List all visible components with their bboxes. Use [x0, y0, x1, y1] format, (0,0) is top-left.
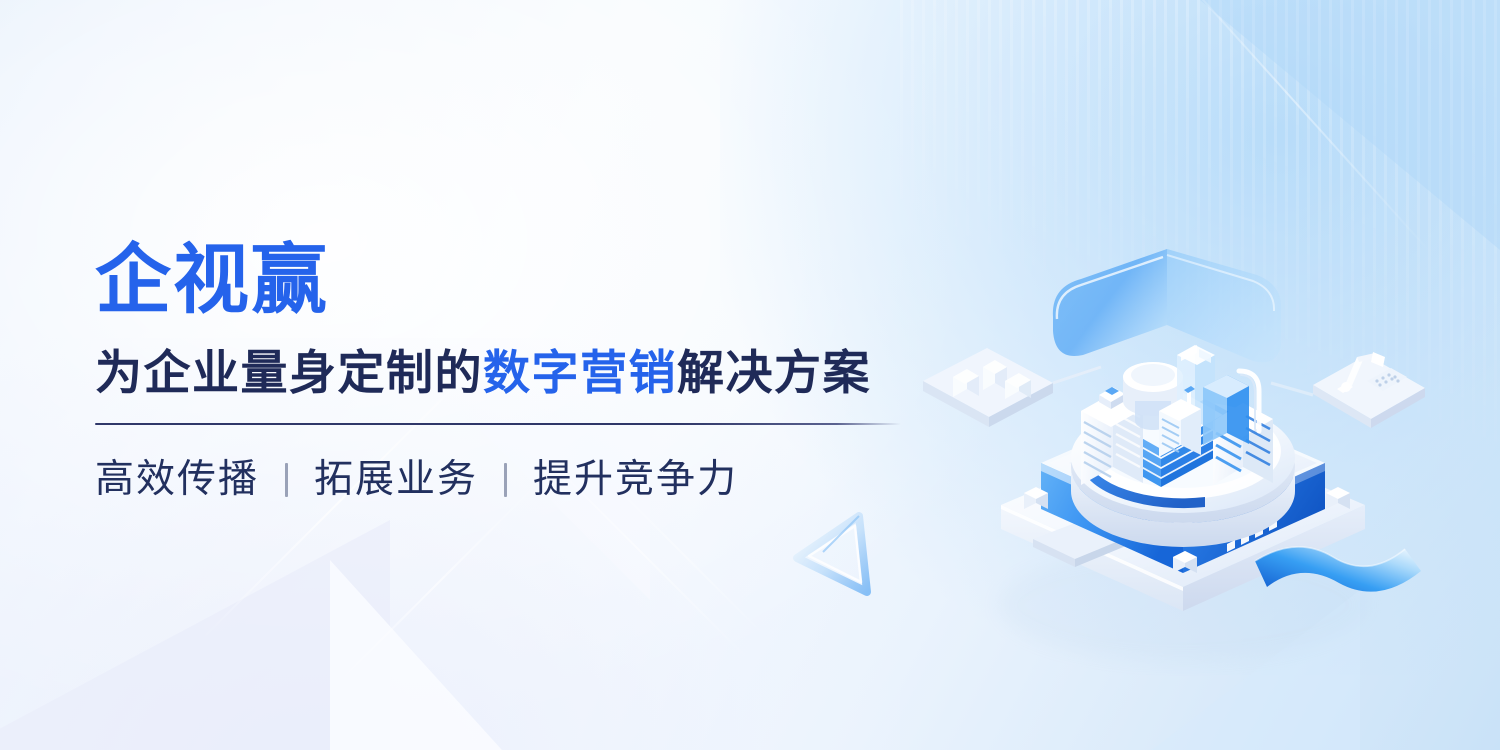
isometric-illustration	[905, 205, 1445, 675]
headline-highlight: 数字营销	[483, 346, 677, 399]
glass-backdrop-panel	[1053, 249, 1281, 362]
floating-crystal-triangle-icon	[783, 500, 893, 610]
city-buildings-cluster	[1081, 345, 1273, 487]
floating-mini-city-card	[923, 348, 1101, 427]
brand-name: 企视赢	[95, 243, 925, 319]
marketing-banner: 企视赢 为企业量身定制的数字营销解决方案 高效传播 拓展业务 提升竞争力	[0, 0, 1500, 750]
tagline-item-2: 拓展业务	[314, 459, 478, 502]
tagline-item-1: 高效传播	[95, 459, 259, 502]
floating-robot-arm-card	[1271, 352, 1425, 428]
decor-diagonal-line-2	[329, 478, 543, 692]
tagline-separator-2	[504, 463, 507, 497]
divider-rule	[95, 423, 901, 425]
tagline-separator-1	[285, 463, 288, 497]
headline-suffix: 解决方案	[677, 346, 871, 399]
tagline-row: 高效传播 拓展业务 提升竞争力	[95, 459, 925, 502]
headline-prefix: 为企业量身定制的	[95, 346, 483, 399]
decor-triangle-bottom-mid	[330, 560, 520, 750]
banner-copy-block: 企视赢 为企业量身定制的数字营销解决方案 高效传播 拓展业务 提升竞争力	[95, 243, 925, 502]
tagline-item-3: 提升竞争力	[533, 459, 738, 502]
headline: 为企业量身定制的数字营销解决方案	[95, 348, 925, 399]
decor-triangle-bottom-left	[0, 520, 390, 750]
